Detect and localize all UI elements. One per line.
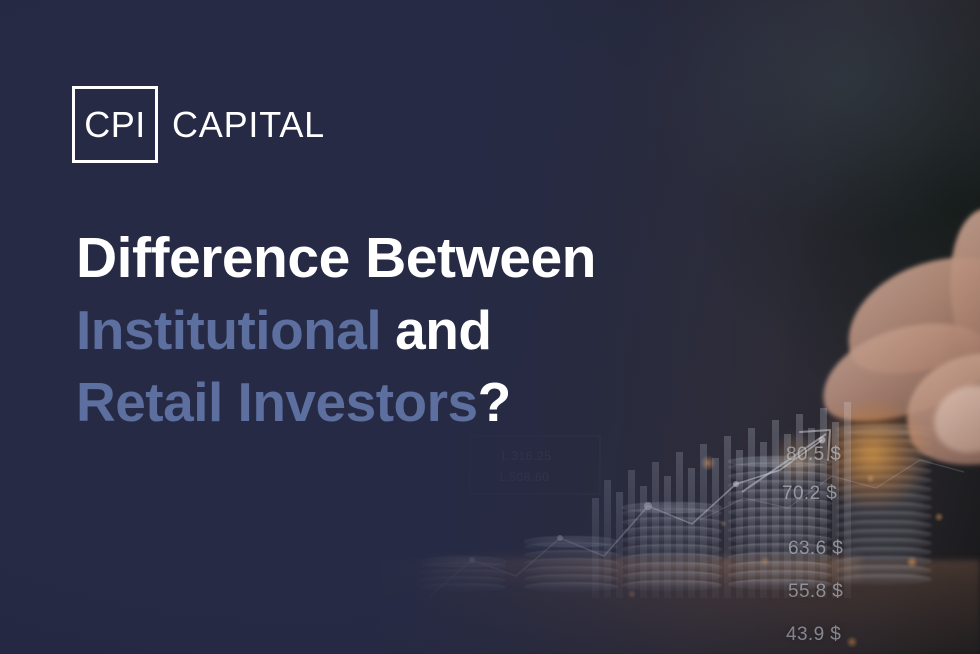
headline-line-3: Retail Investors?: [76, 366, 776, 438]
logo-box-icon: CPI: [72, 86, 158, 163]
headline-line-2: Institutionaland: [76, 294, 776, 366]
banner-root: 80.5 $ 70.2 $ 63.6 $ 55.8 $ 43.9 $ 1.316…: [0, 0, 980, 654]
cpi-capital-logo[interactable]: CPI CAPITAL: [72, 86, 325, 163]
headline-block: Difference Between Institutionaland Reta…: [76, 222, 776, 438]
headline-line-1-text: Difference Between: [76, 226, 596, 290]
headline-retail-investors-text: Retail Investors: [76, 371, 478, 433]
logo-wordmark: CAPITAL: [172, 107, 325, 143]
headline-institutional-text: Institutional: [76, 299, 381, 361]
banner-content: CPI CAPITAL Difference Between Instituti…: [0, 0, 980, 654]
headline-and-text: and: [395, 299, 491, 361]
logo-mark-text: CPI: [84, 107, 146, 143]
headline-question-mark: ?: [478, 371, 511, 433]
headline-line-1: Difference Between: [76, 222, 776, 294]
